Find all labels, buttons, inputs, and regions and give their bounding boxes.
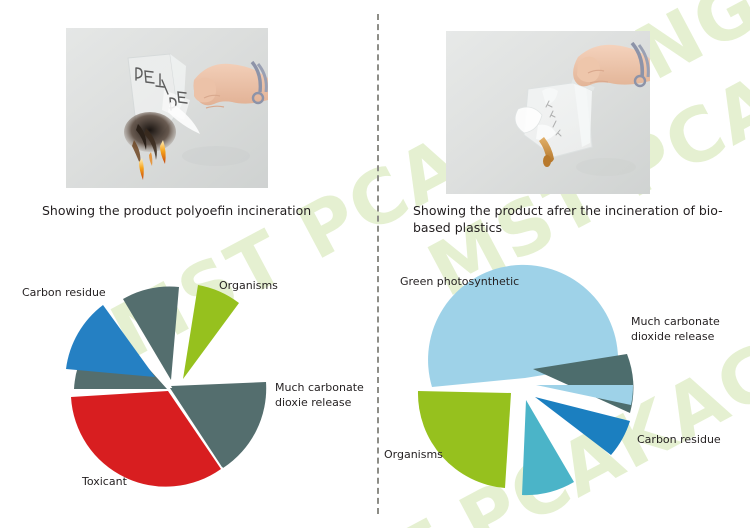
pie-right-label-much-carbonate-line2: dioxide release [631,330,715,343]
pie-left-label-toxicant: Toxicant [81,475,128,488]
caption-left: Showing the product polyoefin incinerati… [42,202,372,219]
caption-right: Showing the product afrer the incinerati… [413,202,733,236]
panel-right: Showing the product afrer the incinerati… [375,0,750,528]
pie-right-label-carbon-residue: Carbon residue [637,433,721,446]
page-root: MST PCAKAGING MST PCAKAGING MST PCAKAGIN… [0,0,750,528]
pie-left-label-much-carbonate-line1: Much carbonate [275,381,364,394]
pie-right-label-green-photosynthetic: Green photosynthetic [400,275,519,288]
bio-based-incineration-pie: Green photosynthetic Much carbonate diox… [380,258,750,523]
pie-right-label-much-carbonate-line1: Much carbonate [631,315,720,328]
pie-slices-left [66,285,266,487]
panel-left: Showing the product polyoefin incinerati… [0,0,375,528]
polyolefin-incineration-pie: Organisms Carbon residue Toxicant Much c… [10,258,375,523]
bio-based-bag-after-incineration-photo [446,31,650,194]
pie-right-label-organisms: Organisms [384,448,443,461]
pie-left-label-organisms: Organisms [219,279,278,292]
pie-left-label-carbon-residue: Carbon residue [22,286,106,299]
polyolefin-bag-burning-photo [66,28,268,188]
pie-slices-right [418,265,633,495]
pie-left-label-much-carbonate-line2: dioxie release [275,396,352,409]
